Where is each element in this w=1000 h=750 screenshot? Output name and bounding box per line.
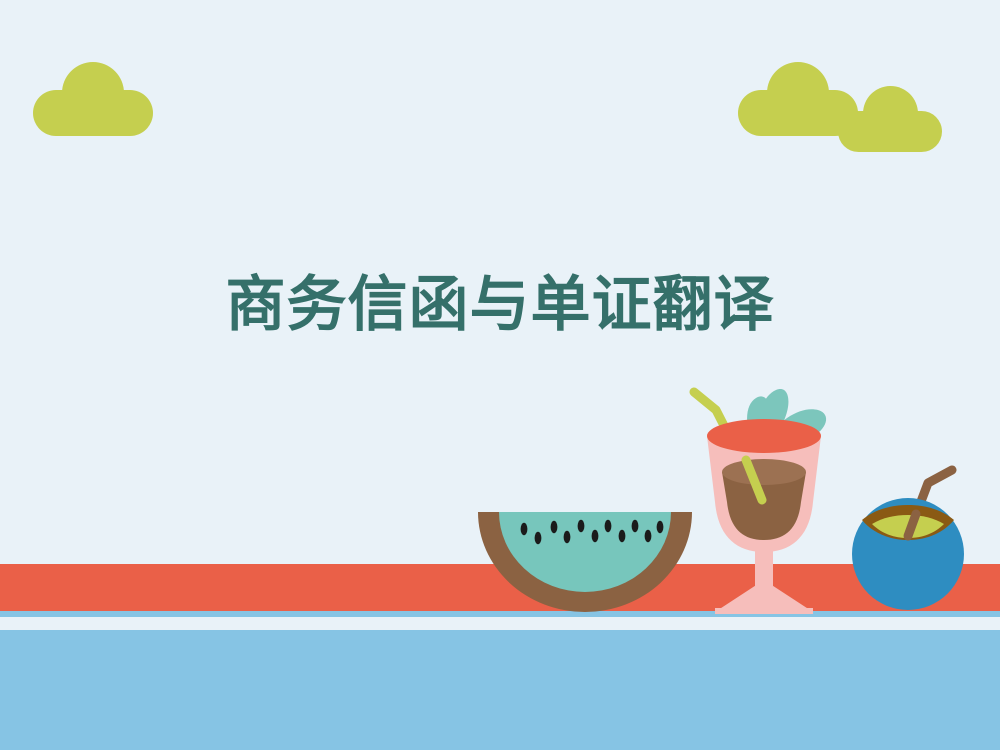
cloud-icon-left (33, 62, 153, 136)
blue-band (0, 630, 1000, 750)
slide-canvas: 商务信函与单证翻译 (0, 0, 1000, 750)
cocktail-foot (715, 580, 813, 612)
watermelon-slice-icon (478, 512, 692, 616)
cloud-base (738, 90, 858, 136)
cocktail-foot-edge (715, 608, 813, 614)
cocktail-drink-surface (722, 459, 806, 485)
cocktail-rim-liquid (707, 419, 821, 453)
coconut-drink-icon (852, 458, 964, 616)
cloud-base (33, 90, 153, 136)
cloud-icon-right-upper (738, 62, 858, 136)
slide-title: 商务信函与单证翻译 (0, 268, 1000, 342)
cocktail-glass-icon (684, 374, 844, 616)
